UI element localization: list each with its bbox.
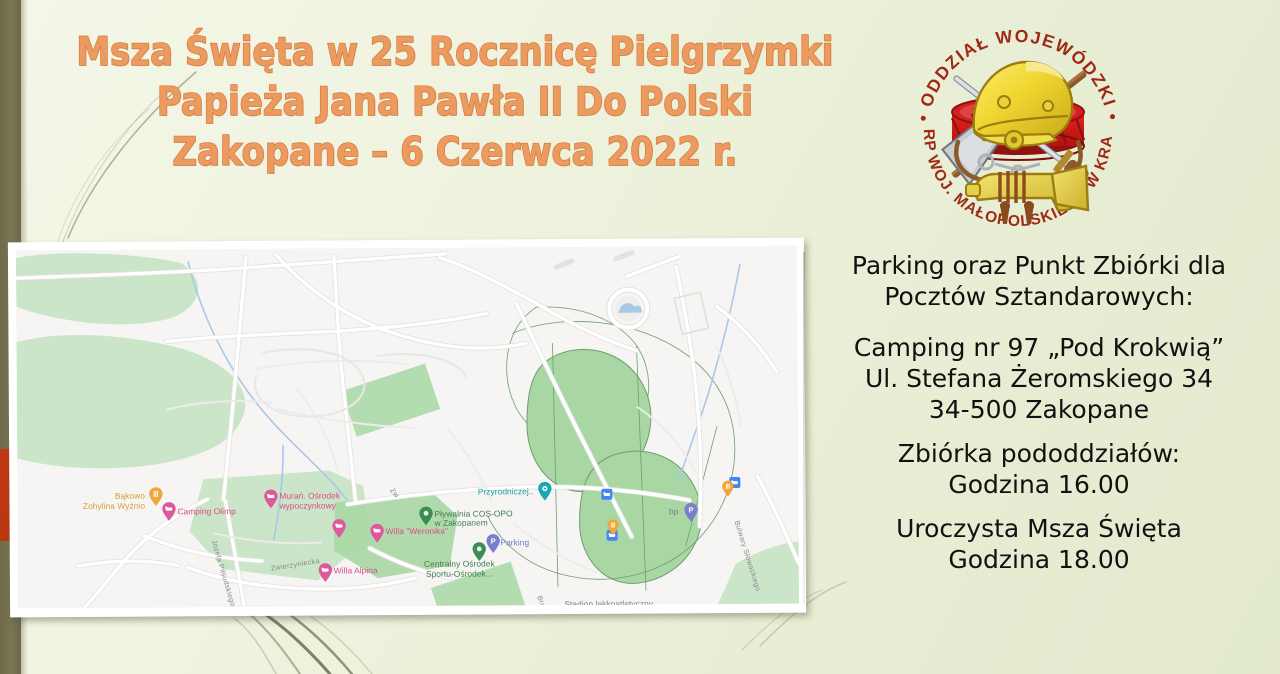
map-pin-camping-nr-97[interactable]	[414, 606, 431, 609]
info-heading-line-1: Parking oraz Punkt Zbiórki dla	[806, 250, 1272, 281]
info-mass: Uroczysta Msza Święta Godzina 18.00	[806, 513, 1272, 575]
map-pin-willa-alpina[interactable]	[318, 563, 333, 583]
map-pin-restaurant-1[interactable]	[606, 519, 619, 536]
page-title: Msza Święta w 25 Rocznicę Pielgrzymki Pa…	[76, 28, 834, 178]
map-pin-przyrodniczej[interactable]	[537, 481, 552, 501]
title-line-2: Papieża Jana Pawła II Do Polski	[76, 78, 834, 128]
map-pin-camping-olimp[interactable]	[162, 501, 177, 521]
map-pin-centralny-o-rodek[interactable]	[472, 542, 487, 562]
map-pin-p-ywalnia-cos-opo[interactable]	[419, 506, 434, 526]
map-vector-layer	[16, 246, 799, 609]
map-lodging-square-icon-0[interactable]	[601, 489, 612, 500]
map-pin-restaurant-0[interactable]	[722, 480, 735, 497]
map-pin-parking[interactable]: P	[486, 534, 501, 554]
info-heading: Parking oraz Punkt Zbiórki dla Pocztów S…	[806, 250, 1272, 312]
info-panel: Parking oraz Punkt Zbiórki dla Pocztów S…	[806, 250, 1272, 575]
map-canvas[interactable]: Bąkowo Zohylina WyźnioCamping OlimpMurań…	[16, 246, 799, 609]
info-divider	[803, 252, 805, 604]
info-mass-line-1: Uroczysta Msza Święta	[806, 513, 1272, 544]
info-address-line-2: Ul. Stefana Żeromskiego 34	[806, 363, 1272, 394]
map-pin-willa-weronika[interactable]	[370, 523, 385, 543]
title-line-3: Zakopane – 6 Czerwca 2022 r.	[76, 128, 834, 178]
map-image-frame[interactable]: Bąkowo Zohylina WyźnioCamping OlimpMurań…	[8, 238, 806, 618]
title-line-1: Msza Święta w 25 Rocznicę Pielgrzymki	[76, 28, 834, 78]
info-heading-line-2: Pocztów Sztandarowych:	[806, 281, 1272, 312]
slide-canvas: Msza Święta w 25 Rocznicę Pielgrzymki Pa…	[0, 0, 1280, 674]
map-pin-unlabeled-3[interactable]	[332, 519, 347, 539]
info-address-line-3: 34-500 Zakopane	[806, 394, 1272, 425]
info-assembly-line-2: Godzina 16.00	[806, 469, 1272, 500]
info-assembly: Zbiórka pododdziałów: Godzina 16.00	[806, 438, 1272, 500]
svg-text:P: P	[491, 537, 496, 546]
info-assembly-line-1: Zbiórka pododdziałów:	[806, 438, 1272, 469]
map-pin-mura-o-rodek[interactable]	[264, 488, 279, 508]
info-address: Camping nr 97 „Pod Krokwią” Ul. Stefana …	[806, 332, 1272, 425]
zosp-emblem: • ODDZIAŁ WOJEWÓDZKI • ZOSP RP WOJ. MAŁO…	[900, 14, 1136, 250]
info-address-line-1: Camping nr 97 „Pod Krokwią”	[806, 332, 1272, 363]
map-pin-bp[interactable]: P	[684, 502, 699, 522]
info-mass-line-2: Godzina 18.00	[806, 544, 1272, 575]
svg-text:P: P	[689, 505, 694, 514]
